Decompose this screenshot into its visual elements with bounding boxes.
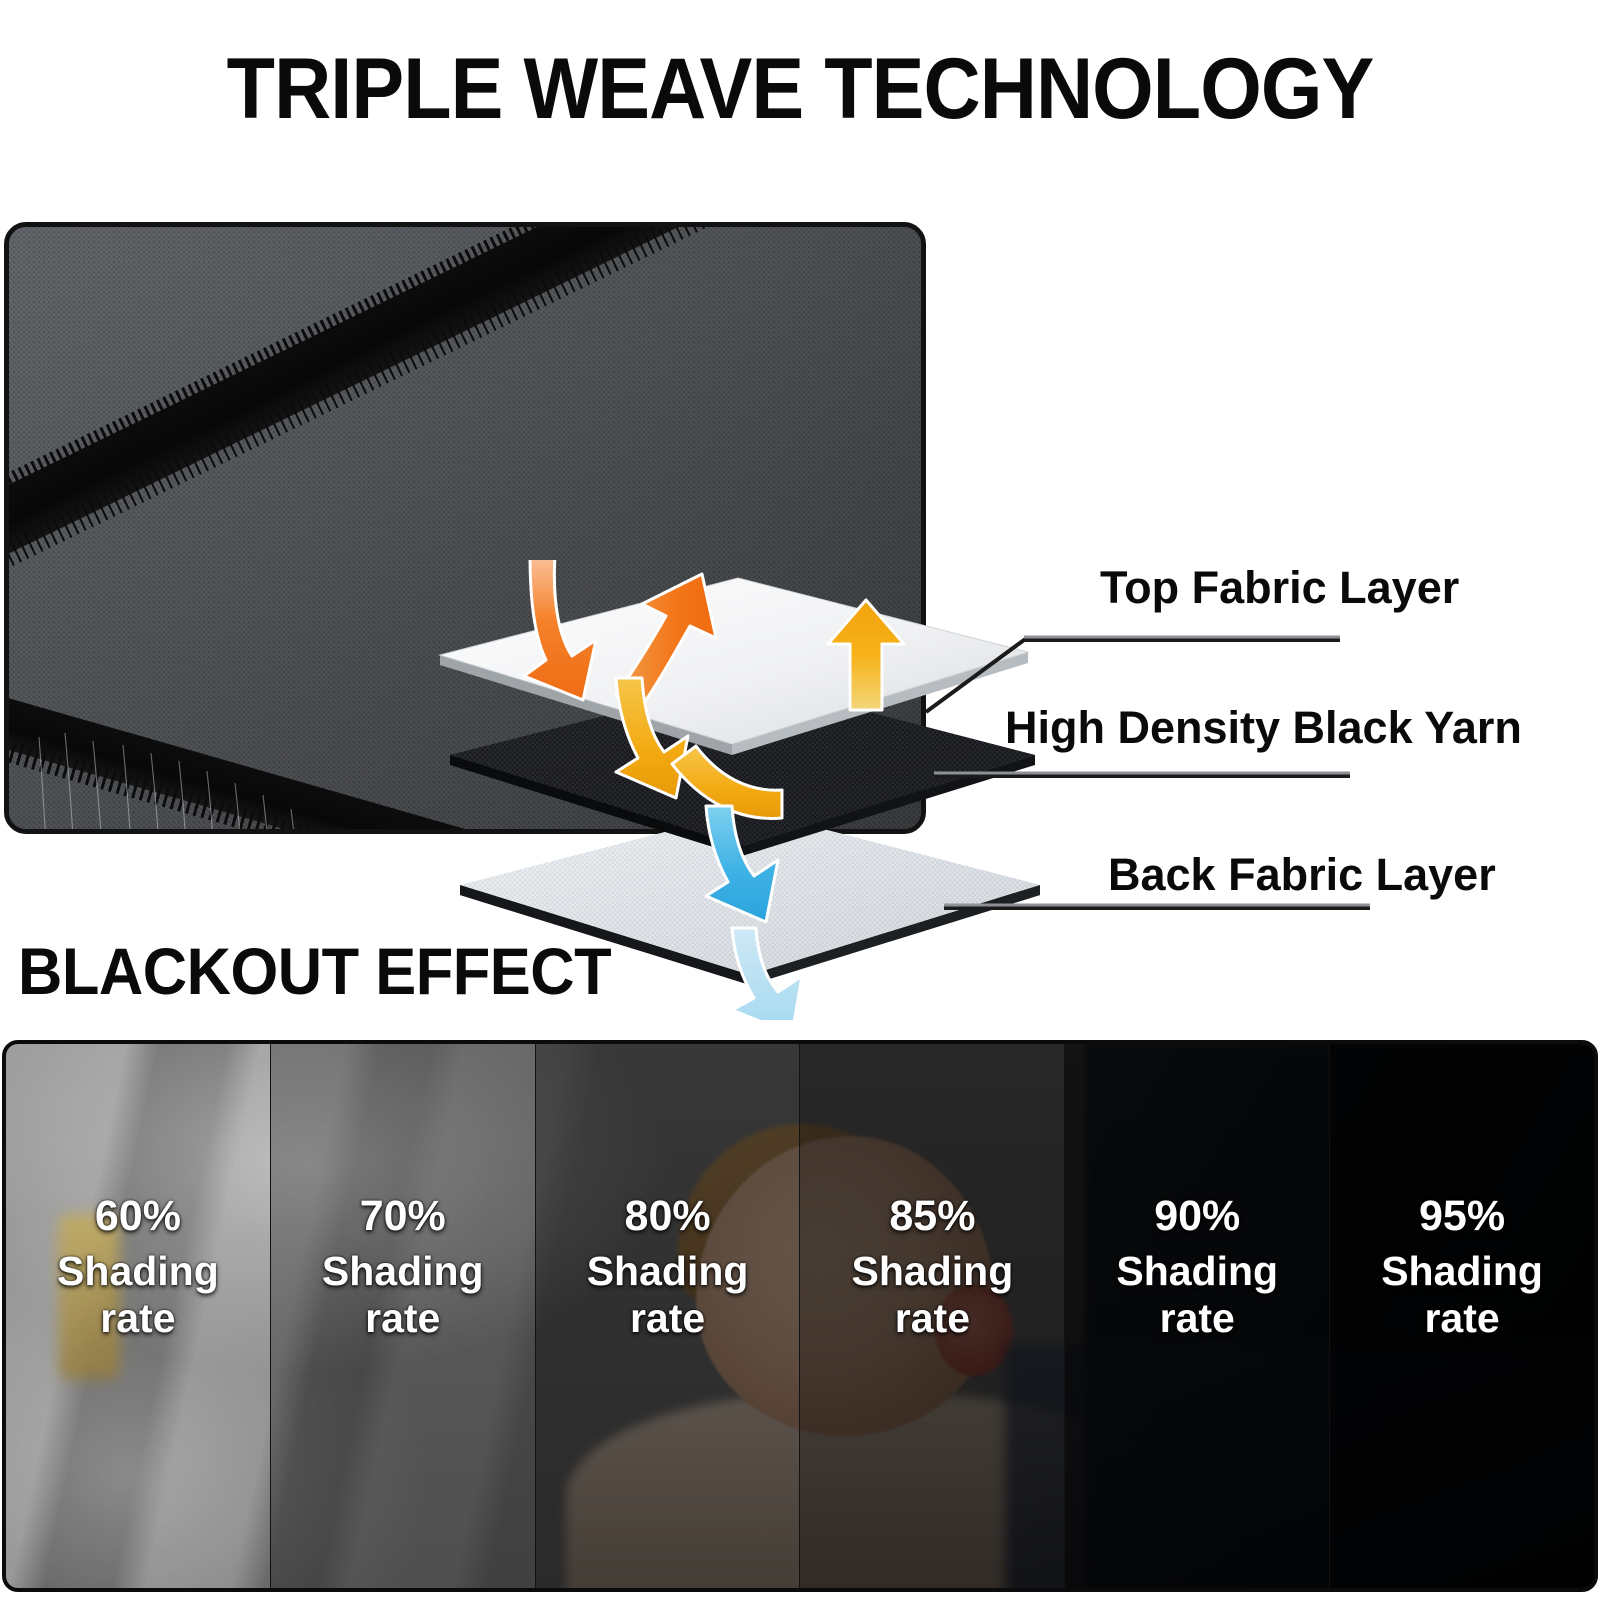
shading-rate-panel: 60% Shading rate xyxy=(6,1044,271,1588)
black-yarn-layer-leader-line xyxy=(930,752,1350,812)
shading-veil xyxy=(536,1044,800,1588)
shading-rate-panel: 85% Shading rate xyxy=(800,1044,1065,1588)
loose-threads xyxy=(19,727,439,834)
shading-veil xyxy=(1330,1044,1594,1588)
shading-rate-panel: 80% Shading rate xyxy=(536,1044,801,1588)
shading-veil xyxy=(6,1044,270,1588)
shading-rate-panel: 90% Shading rate xyxy=(1065,1044,1330,1588)
shading-veil xyxy=(1065,1044,1329,1588)
label-back-fabric-layer: Back Fabric Layer xyxy=(1108,852,1496,897)
shading-veil xyxy=(271,1044,535,1588)
shading-veil xyxy=(800,1044,1064,1588)
page-title: TRIPLE WEAVE TECHNOLOGY xyxy=(64,46,1536,132)
blackout-effect-heading: BLACKOUT EFFECT xyxy=(18,938,611,1004)
infographic-root: TRIPLE WEAVE TECHNOLOGY xyxy=(0,0,1600,1600)
blackout-comparison-strip: 60% Shading rate 70% Shading rate xyxy=(2,1040,1598,1592)
label-top-fabric-layer: Top Fabric Layer xyxy=(1100,565,1459,610)
shading-rate-panel: 95% Shading rate xyxy=(1330,1044,1594,1588)
label-high-density-black-yarn: High Density Black Yarn xyxy=(1005,705,1522,750)
shading-rate-panel: 70% Shading rate xyxy=(271,1044,536,1588)
